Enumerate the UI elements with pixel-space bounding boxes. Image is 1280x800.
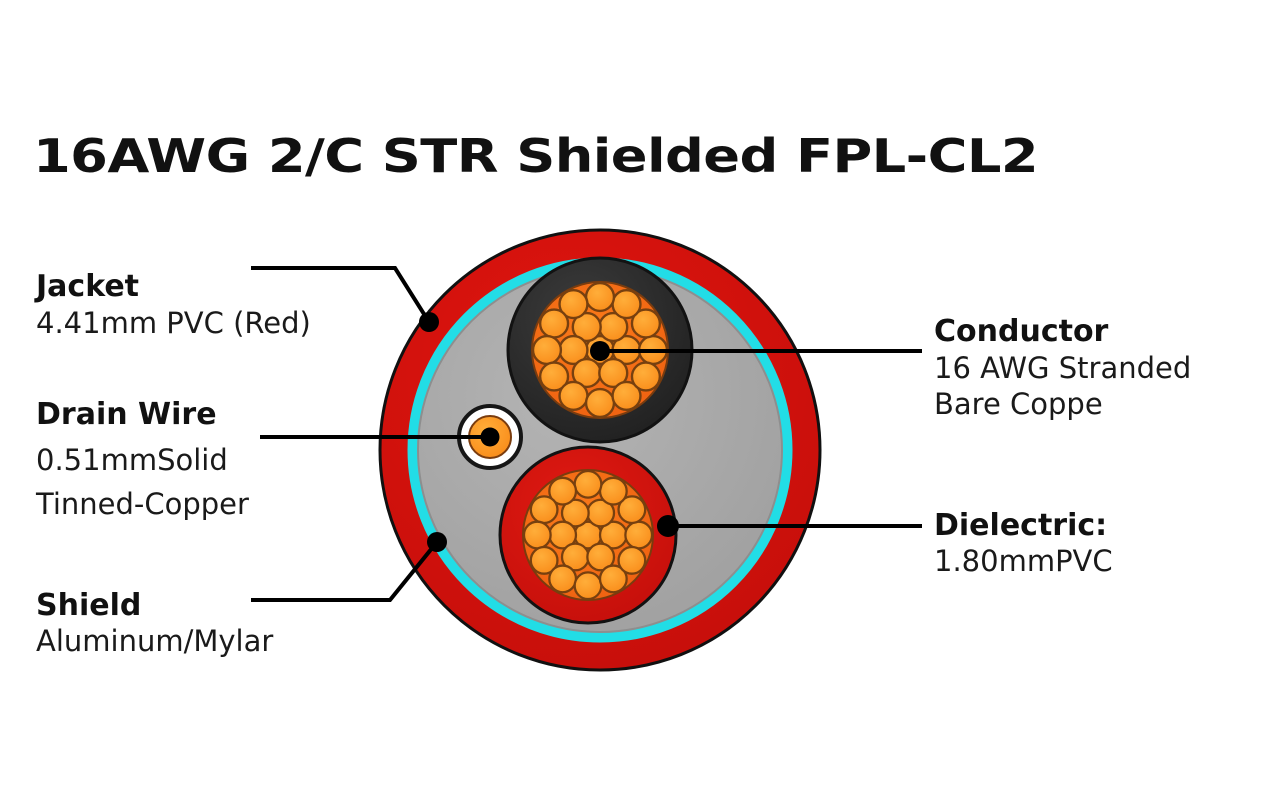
leader-dot-conductor [590,341,610,361]
conductor-bottom [500,447,676,623]
leader-dot-shield [427,532,447,552]
cable-assembly [380,230,820,670]
cable-cross-section-diagram: 16AWG 2/C STR Shielded FPL-CL2 [0,0,1280,800]
diagram-title: 16AWG 2/C STR Shielded FPL-CL2 [33,129,1038,183]
label-shield-line-1: Aluminum/Mylar [36,624,273,658]
label-drain-wire: Drain Wire 0.51mmSolid Tinned-Copper [35,397,249,521]
label-drain-wire-line-2: Tinned-Copper [35,487,249,521]
leader-dot-drain-wire [481,428,500,447]
label-drain-wire-head: Drain Wire [36,397,217,432]
label-conductor-head: Conductor [934,314,1109,349]
label-conductor: Conductor 16 AWG Stranded Bare Coppe [934,314,1191,421]
label-dielectric-line-1: 1.80mmPVC [934,544,1113,578]
label-dielectric-head: Dielectric: [934,508,1107,543]
label-conductor-line-2: Bare Coppe [934,387,1103,421]
label-jacket-head: Jacket [34,269,139,304]
label-jacket-line-1: 4.41mm PVC (Red) [36,306,311,340]
leader-dot-dielectric [657,515,679,537]
label-drain-wire-line-1: 0.51mmSolid [36,443,228,477]
label-shield: Shield Aluminum/Mylar [36,588,273,658]
label-shield-head: Shield [36,588,141,623]
diagram-canvas: 16AWG 2/C STR Shielded FPL-CL2 [0,0,1280,800]
leader-dot-jacket [419,312,439,332]
label-dielectric: Dielectric: 1.80mmPVC [934,508,1113,578]
label-conductor-line-1: 16 AWG Stranded [934,351,1191,385]
label-jacket: Jacket 4.41mm PVC (Red) [34,269,311,340]
